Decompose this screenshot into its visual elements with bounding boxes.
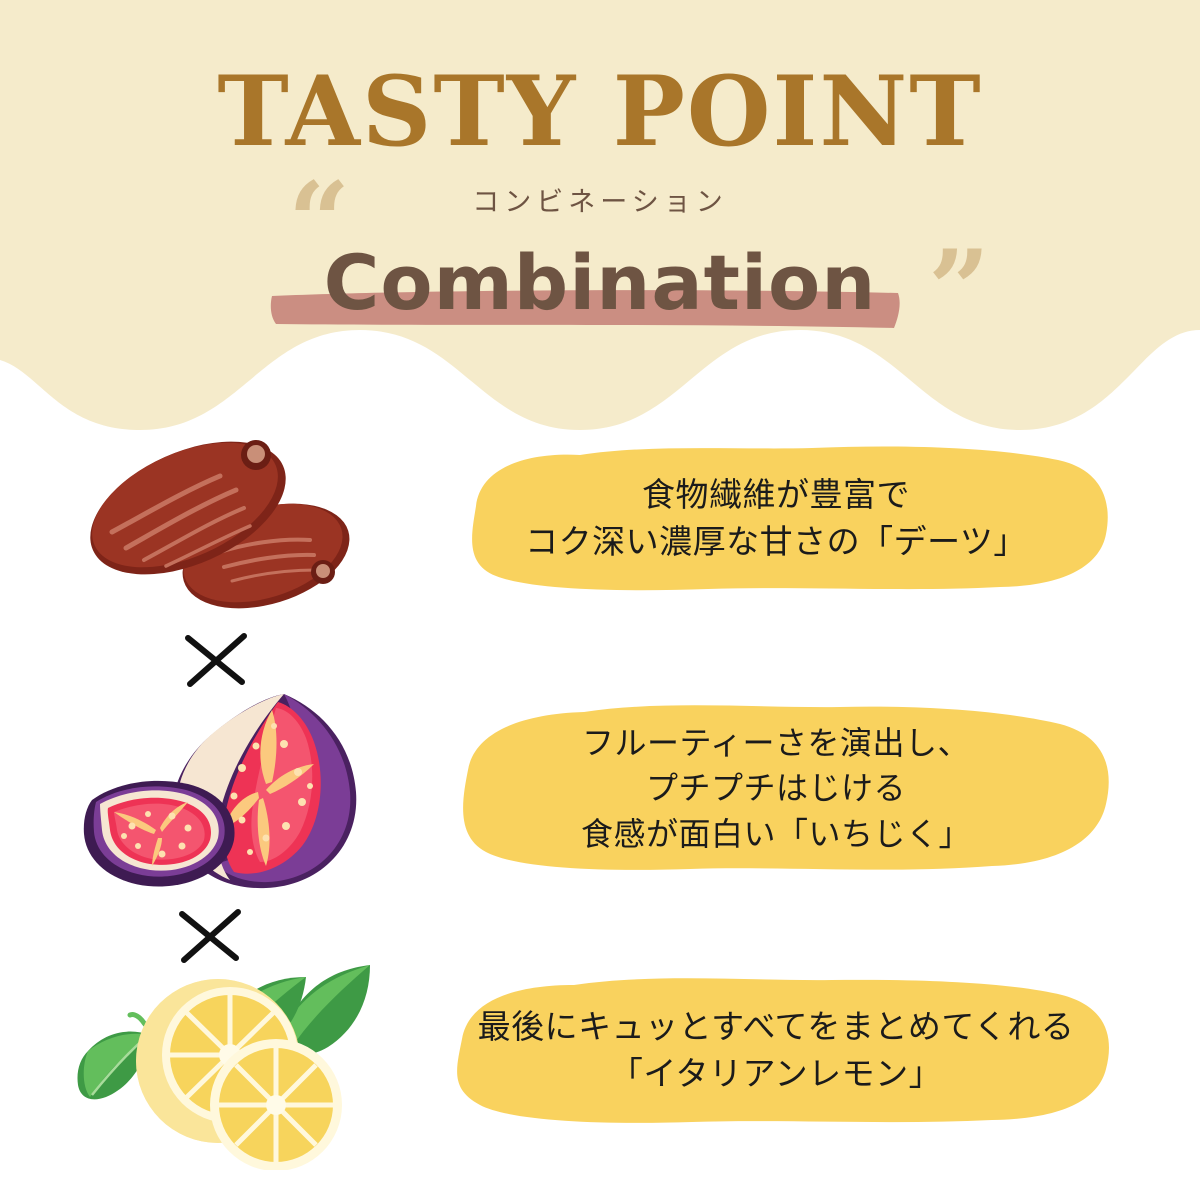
kana-subtitle: コンビネーション: [0, 180, 1200, 219]
bubble-line: 「イタリアンレモン」: [610, 1051, 942, 1098]
text-bubble-lemon: 最後にキュッとすべてをまとめてくれる 「イタリアンレモン」: [440, 977, 1112, 1125]
text-bubble-dates: 食物繊維が豊富で コク深い濃厚な甘さの「デーツ」: [440, 446, 1112, 592]
bubble-line: 食感が面白い「いちじく」: [581, 812, 971, 857]
script-title: Combination: [0, 238, 1200, 327]
text-bubble-fig: フルーティーさを演出し、 プチプチはじける 食感が面白い「いちじく」: [440, 704, 1112, 874]
infographic-page: “ ” TASTY POINT コンビネーション Combination: [0, 0, 1200, 1200]
combination-row-fig: フルーティーさを演出し、 プチプチはじける 食感が面白い「いちじく」: [0, 680, 1200, 910]
lemon-fruit-icon: [70, 955, 390, 1170]
page-title: TASTY POINT: [0, 62, 1200, 163]
header-content: “ ” TASTY POINT コンビネーション Combination: [0, 0, 1200, 360]
bubble-line: 最後にキュッとすべてをまとめてくれる: [478, 1004, 1075, 1051]
bubble-line: フルーティーさを演出し、: [582, 721, 970, 766]
header-band: “ ” TASTY POINT コンビネーション Combination: [0, 0, 1200, 430]
bubble-line: 食物繊維が豊富で: [642, 472, 910, 519]
bubble-text-fig: フルーティーさを演出し、 プチプチはじける 食感が面白い「いちじく」: [440, 704, 1112, 874]
combination-row-dates: 食物繊維が豊富で コク深い濃厚な甘さの「デーツ」: [0, 420, 1200, 630]
dates-fruit-icon: [70, 420, 390, 630]
bubble-line: コク深い濃厚な甘さの「デーツ」: [525, 519, 1027, 566]
bubble-text-dates: 食物繊維が豊富で コク深い濃厚な甘さの「デーツ」: [440, 446, 1112, 592]
bubble-line: プチプチはじける: [646, 766, 906, 811]
combination-row-lemon: 最後にキュッとすべてをまとめてくれる 「イタリアンレモン」: [0, 955, 1200, 1170]
fig-fruit-icon: [70, 680, 390, 910]
bubble-text-lemon: 最後にキュッとすべてをまとめてくれる 「イタリアンレモン」: [440, 977, 1112, 1125]
